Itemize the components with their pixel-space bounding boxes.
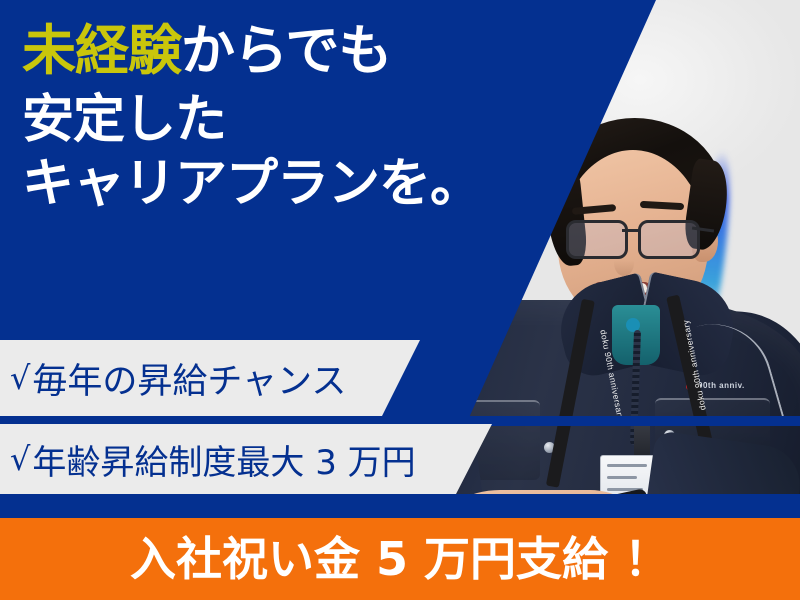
company-logo-text: 90th anniv. xyxy=(698,381,745,390)
feature-banner-1: √ 毎年の昇給チャンス xyxy=(0,340,420,416)
badge-line-2 xyxy=(607,476,637,479)
recruitment-banner: 90th anniv. doku 90th anniversary doku 9… xyxy=(0,0,800,600)
headline-block: 未経験からでも 安定した キャリアプランを。 xyxy=(22,24,562,210)
blue-divider-lower xyxy=(0,494,800,518)
bonus-footer-bar: 入社祝い金 5 万円支給 ！ xyxy=(0,518,800,600)
feature-banner-1-text: 毎年の昇給チャンス xyxy=(32,353,346,404)
feature-banner-2: √ 年齢昇給制度最大 3 万円 xyxy=(0,424,492,494)
check-icon: √ xyxy=(10,362,30,394)
glasses-bridge xyxy=(622,229,640,232)
bonus-footer-text: 入社祝い金 5 万円支給 ！ xyxy=(130,536,670,582)
lens-right xyxy=(638,220,700,259)
nose xyxy=(614,250,634,276)
eyeglasses-icon xyxy=(562,220,708,254)
headline-line-1-rest: からでも xyxy=(181,19,391,82)
headline-line-2: 安定した xyxy=(22,94,562,146)
feature-banner-2-text: 年齢昇給制度最大 3 万円 xyxy=(32,435,415,484)
headline-accent-text: 未経験 xyxy=(22,19,181,82)
check-icon: √ xyxy=(10,443,30,475)
headline-line-1: 未経験からでも xyxy=(22,24,562,78)
badge-line-1 xyxy=(607,464,647,467)
headline-line-3: キャリアプランを。 xyxy=(22,158,562,210)
